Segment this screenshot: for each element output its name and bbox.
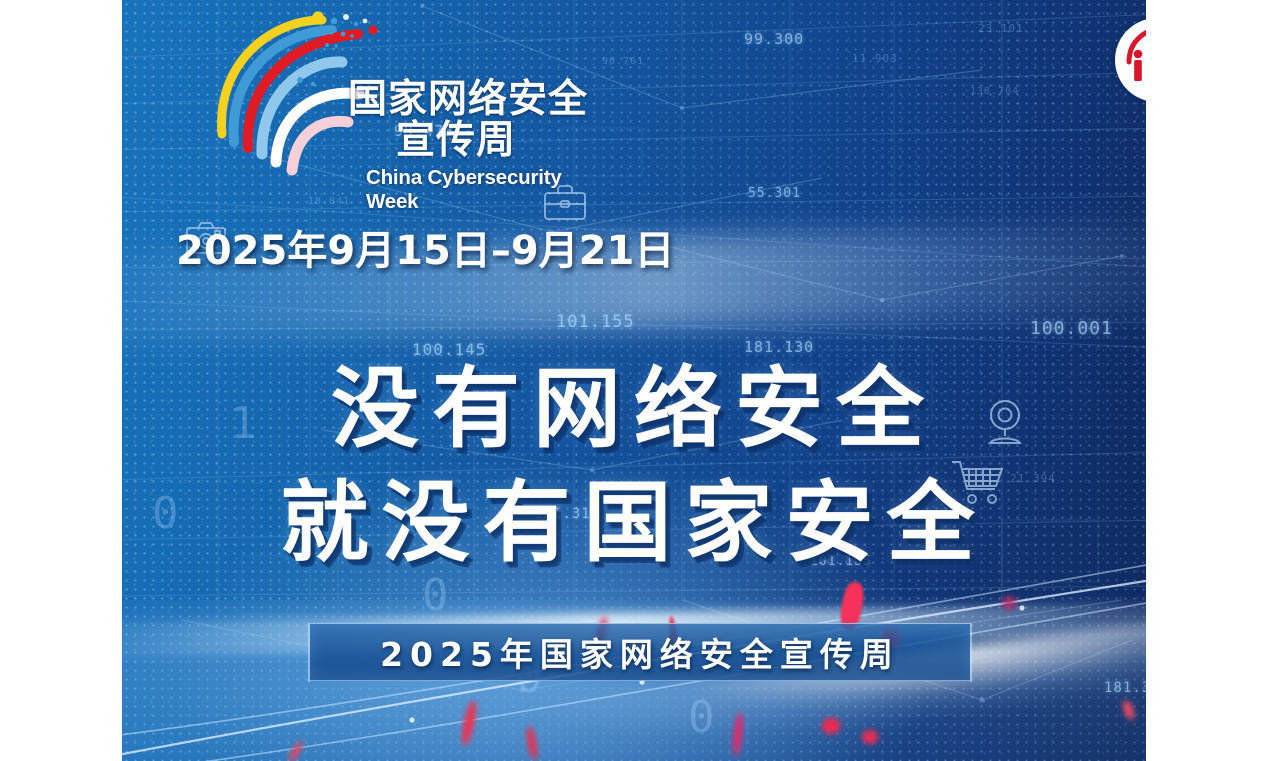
- logo-title-line2: 宣传周: [396, 119, 618, 163]
- accent-glow-10: [862, 730, 878, 744]
- cybersecurity-week-poster: 99.30023.10111.90399.47390.76118.04155.3…: [122, 0, 1146, 761]
- event-date-range: 2025年9月15日–9月21日: [176, 218, 674, 276]
- logo-text-block: 国家网络安全 宣传周 China Cybersecurity Week: [348, 80, 618, 214]
- accent-glow-8: [1002, 596, 1016, 610]
- logo-title-line1: 国家网络安全: [348, 80, 618, 119]
- headline-line-2: 就没有国家安全: [122, 466, 1146, 580]
- headline-slogan: 没有网络安全 就没有国家安全: [122, 352, 1146, 581]
- poster-canvas: 99.30023.10111.90399.47390.76118.04155.3…: [0, 0, 1280, 761]
- headline-line-1: 没有网络安全: [122, 352, 1146, 466]
- svg-text:自: 自: [1145, 54, 1146, 83]
- logo-subtitle-en: China Cybersecurity Week: [366, 166, 618, 214]
- event-name-ribbon: 2025年国家网络安全宣传周: [310, 623, 970, 681]
- ribbon-label: 2025年国家网络安全宣传周: [380, 628, 900, 676]
- china-cybersecurity-week-logo: 国家网络安全 宣传周 China Cybersecurity Week: [200, 8, 620, 203]
- accent-glow-9: [822, 718, 840, 734]
